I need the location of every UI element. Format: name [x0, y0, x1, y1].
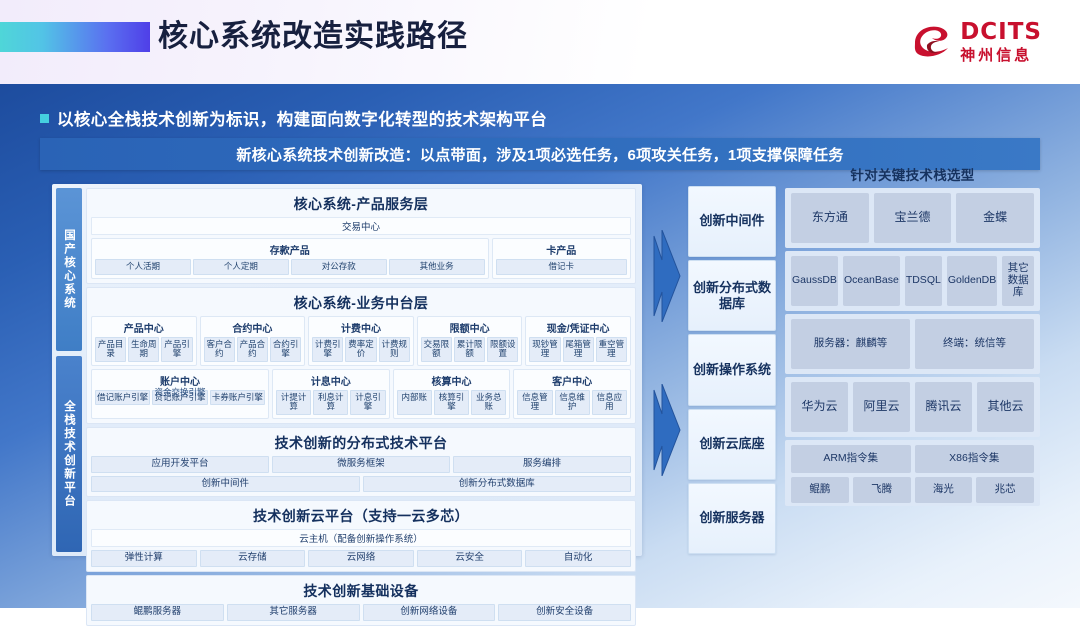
- vendor-chip[interactable]: GaussDB: [791, 256, 838, 306]
- vertical-label-domestic-core: 国产核心系统: [56, 188, 82, 351]
- bullet-heading: 以核心全栈技术创新为标识，构建面向数字化转型的技术架构平台: [40, 106, 547, 130]
- group-account-center[interactable]: 账户中心 借记账户引擎 贷记账户引擎 卡券账户引擎 资金交换引擎: [91, 369, 269, 419]
- cell-item[interactable]: 客户合约: [204, 337, 235, 362]
- logo-text: DCITS 神州信息: [960, 21, 1042, 63]
- dcits-logo: DCITS 神州信息: [911, 18, 1042, 66]
- cell-item[interactable]: 累计限额: [454, 337, 485, 362]
- vendor-chip[interactable]: 阿里云: [853, 382, 910, 432]
- bar-item[interactable]: 服务编排: [453, 456, 631, 473]
- mid-box-os[interactable]: 创新操作系统: [688, 334, 776, 405]
- band-database-vendors: GaussDB OceanBase TDSQL GoldenDB 其它数据库: [785, 251, 1040, 311]
- cell-item[interactable]: 计费引擎: [312, 337, 343, 362]
- cell-item[interactable]: 计息引擎: [350, 390, 385, 415]
- innovation-targets-column: 创新中间件 创新分布式数据库 创新操作系统 创新云底座 创新服务器: [688, 186, 776, 554]
- group-cash-voucher-center[interactable]: 现金/凭证中心 现钞管理 尾箱管理 重空管理: [525, 316, 631, 366]
- mid-box-database[interactable]: 创新分布式数据库: [688, 260, 776, 331]
- mid-box-middleware[interactable]: 创新中间件: [688, 186, 776, 257]
- vertical-label-fullstack-platform: 全栈技术创新平台: [56, 356, 82, 552]
- page-header: 核心系统改造实践路径 DCITS 神州信息: [0, 0, 1080, 84]
- cell-item[interactable]: 产品合约: [237, 337, 268, 362]
- logo-text-en: DCITS: [960, 21, 1042, 44]
- bar-item[interactable]: 云存储: [200, 550, 306, 567]
- bar-item[interactable]: 云安全: [417, 550, 523, 567]
- group-title: 客户中心: [517, 372, 627, 390]
- tech-stack-selection-column: 针对关键技术栈选型 东方通 宝兰德 金蝶 GaussDB OceanBase T…: [785, 164, 1040, 506]
- instruction-set-chip[interactable]: ARM指令集: [791, 445, 911, 473]
- vendor-chip[interactable]: 金蝶: [956, 193, 1034, 243]
- vendor-chip[interactable]: 终端：统信等: [915, 319, 1034, 369]
- group-product-center[interactable]: 产品中心 产品目录 生命周期 产品引擎: [91, 316, 197, 366]
- section-infrastructure: 技术创新基础设备 鲲鹏服务器 其它服务器 创新网络设备 创新安全设备: [86, 575, 636, 626]
- sub-banner-text: 新核心系统技术创新改造：以点带面，涉及1项必选任务，6项攻关任务，1项支撑保障任…: [236, 144, 843, 165]
- cell-item[interactable]: 核算引擎: [434, 390, 469, 415]
- group-accounting-center[interactable]: 核算中心 内部账 核算引擎 业务总账: [393, 369, 511, 419]
- cell-item[interactable]: 交易限额: [421, 337, 452, 362]
- logo-text-cn: 神州信息: [960, 48, 1042, 63]
- vendor-chip[interactable]: 宝兰德: [874, 193, 952, 243]
- vendor-chip[interactable]: 其它数据库: [1002, 256, 1034, 306]
- instruction-set-chip[interactable]: X86指令集: [915, 445, 1035, 473]
- page-title: 核心系统改造实践路径: [158, 18, 468, 56]
- vendor-chip[interactable]: 腾讯云: [915, 382, 972, 432]
- vendor-chip[interactable]: OceanBase: [843, 256, 900, 306]
- cell-item[interactable]: 现钞管理: [529, 337, 560, 362]
- vendor-chip[interactable]: TDSQL: [905, 256, 942, 306]
- section-title: 技术创新基础设备: [91, 579, 631, 604]
- group-interest-center[interactable]: 计息中心 计提计算 利息计算 计息引擎: [272, 369, 390, 419]
- cell-item[interactable]: 计提计算: [276, 390, 311, 415]
- group-title: 限额中心: [421, 319, 519, 337]
- group-customer-center[interactable]: 客户中心 信息管理 信息维护 信息应用: [513, 369, 631, 419]
- cpu-vendor-chip[interactable]: 鲲鹏: [791, 477, 849, 503]
- cell-item[interactable]: 合约引擎: [270, 337, 301, 362]
- group-title: 计费中心: [312, 319, 410, 337]
- bar-item[interactable]: 创新中间件: [91, 476, 360, 493]
- bar-item[interactable]: 微服务框架: [272, 456, 450, 473]
- cell-item[interactable]: 个人活期: [95, 259, 191, 275]
- group-title: 存款产品: [95, 241, 485, 259]
- bullet-heading-text: 以核心全栈技术创新为标识，构建面向数字化转型的技术架构平台: [57, 106, 547, 130]
- cell-item[interactable]: 其他业务: [389, 259, 485, 275]
- left-architecture-card: 国产核心系统 全栈技术创新平台 核心系统-产品服务层 交易中心 存款产品 个人活…: [52, 184, 642, 556]
- band-middleware-vendors: 东方通 宝兰德 金蝶: [785, 188, 1040, 248]
- group-billing-center[interactable]: 计费中心 计费引擎 费率定价 计费规则: [308, 316, 414, 366]
- group-title: 合约中心: [204, 319, 302, 337]
- group-title: 卡产品: [496, 241, 627, 259]
- cell-item[interactable]: 限额设置: [487, 337, 518, 362]
- bar-item[interactable]: 鲲鹏服务器: [91, 604, 224, 621]
- arrow-right-icon: [652, 230, 682, 322]
- group-limit-center[interactable]: 限额中心 交易限额 累计限额 限额设置: [417, 316, 523, 366]
- cell-item[interactable]: 业务总账: [471, 390, 506, 415]
- section-title: 技术创新云平台（支持一云多芯）: [91, 504, 631, 529]
- cell-item[interactable]: 信息应用: [592, 390, 627, 415]
- cell-item[interactable]: 个人定期: [193, 259, 289, 275]
- cell-item[interactable]: 对公存款: [291, 259, 387, 275]
- left-sections: 核心系统-产品服务层 交易中心 存款产品 个人活期 个人定期 对公存款 其他业务: [86, 188, 636, 629]
- slide-body: 以核心全栈技术创新为标识，构建面向数字化转型的技术架构平台 新核心系统技术创新改…: [0, 84, 1080, 608]
- fund-exchange-engine-overlay: 资金交换引擎: [95, 386, 265, 398]
- bar-item[interactable]: 创新安全设备: [498, 604, 631, 621]
- bar-item[interactable]: 其它服务器: [227, 604, 360, 621]
- mid-box-server[interactable]: 创新服务器: [688, 483, 776, 554]
- band-os-vendors: 服务器：麒麟等 终端：统信等: [785, 314, 1040, 374]
- cell-item[interactable]: 信息维护: [555, 390, 590, 415]
- vendor-chip[interactable]: 东方通: [791, 193, 869, 243]
- bar-item[interactable]: 创新网络设备: [363, 604, 496, 621]
- tech-stack-title: 针对关键技术栈选型: [785, 164, 1040, 184]
- group-title: 现金/凭证中心: [529, 319, 627, 337]
- cloud-host-bar: 云主机（配备创新操作系统）: [91, 529, 631, 547]
- cpu-vendor-chip[interactable]: 兆芯: [976, 477, 1034, 503]
- cpu-vendor-chip[interactable]: 海光: [915, 477, 973, 503]
- bar-item[interactable]: 弹性计算: [91, 550, 197, 567]
- group-title: 计息中心: [276, 372, 386, 390]
- section-title: 技术创新的分布式技术平台: [91, 431, 631, 456]
- cell-item[interactable]: 信息管理: [517, 390, 552, 415]
- group-card-products[interactable]: 卡产品 借记卡: [492, 238, 631, 279]
- section-title: 核心系统-业务中台层: [91, 291, 631, 316]
- cpu-vendor-row: 鲲鹏 飞腾 海光 兆芯: [791, 477, 1034, 503]
- cell-item[interactable]: 产品引擎: [161, 337, 192, 362]
- logo-swirl-icon: [911, 21, 953, 63]
- section-business-middle-platform: 核心系统-业务中台层 产品中心 产品目录 生命周期 产品引擎 合约中心: [86, 287, 636, 424]
- bar-item[interactable]: 自动化: [525, 550, 631, 567]
- section-cloud-platform: 技术创新云平台（支持一云多芯） 云主机（配备创新操作系统） 弹性计算 云存储 云…: [86, 500, 636, 572]
- cell-item[interactable]: 生命周期: [128, 337, 159, 362]
- group-contract-center[interactable]: 合约中心 客户合约 产品合约 合约引擎: [200, 316, 306, 366]
- cell-item[interactable]: 借记卡: [496, 259, 627, 275]
- cell-item[interactable]: 产品目录: [95, 337, 126, 362]
- cell-item[interactable]: 重空管理: [596, 337, 627, 362]
- vendor-chip[interactable]: 服务器：麒麟等: [791, 319, 910, 369]
- section-product-service: 核心系统-产品服务层 交易中心 存款产品 个人活期 个人定期 对公存款 其他业务: [86, 188, 636, 284]
- cell-item[interactable]: 利息计算: [313, 390, 348, 415]
- bar-item[interactable]: 应用开发平台: [91, 456, 269, 473]
- cell-item[interactable]: 内部账: [397, 390, 432, 415]
- cell-item[interactable]: 计费规则: [379, 337, 410, 362]
- group-title: 产品中心: [95, 319, 193, 337]
- title-accent-bar: [0, 22, 150, 52]
- section-distributed-tech-platform: 技术创新的分布式技术平台 应用开发平台 微服务框架 服务编排 创新中间件 创新分…: [86, 427, 636, 498]
- bullet-square-icon: [40, 114, 49, 123]
- cpu-vendor-chip[interactable]: 飞腾: [853, 477, 911, 503]
- bar-item[interactable]: 创新分布式数据库: [363, 476, 632, 493]
- vendor-chip[interactable]: 其他云: [977, 382, 1034, 432]
- arrow-right-icon: [652, 384, 682, 476]
- cell-item[interactable]: 尾箱管理: [563, 337, 594, 362]
- band-cloud-vendors: 华为云 阿里云 腾讯云 其他云: [785, 377, 1040, 437]
- group-deposit-products[interactable]: 存款产品 个人活期 个人定期 对公存款 其他业务: [91, 238, 489, 279]
- chip-stack: ARM指令集 X86指令集 鲲鹏 飞腾 海光 兆芯: [791, 445, 1034, 501]
- trade-center-bar: 交易中心: [91, 217, 631, 235]
- tech-stack-bands: 东方通 宝兰德 金蝶 GaussDB OceanBase TDSQL Golde…: [785, 188, 1040, 506]
- architecture-diagram: 国产核心系统 全栈技术创新平台 核心系统-产品服务层 交易中心 存款产品 个人活…: [40, 184, 1040, 564]
- band-chip-vendors: ARM指令集 X86指令集 鲲鹏 飞腾 海光 兆芯: [785, 440, 1040, 506]
- mid-box-cloud[interactable]: 创新云底座: [688, 409, 776, 480]
- instruction-set-row: ARM指令集 X86指令集: [791, 445, 1034, 473]
- vendor-chip[interactable]: GoldenDB: [947, 256, 997, 306]
- bar-item[interactable]: 云网络: [308, 550, 414, 567]
- vendor-chip[interactable]: 华为云: [791, 382, 848, 432]
- group-title: 核算中心: [397, 372, 507, 390]
- cell-item[interactable]: 费率定价: [345, 337, 376, 362]
- section-title: 核心系统-产品服务层: [91, 192, 631, 217]
